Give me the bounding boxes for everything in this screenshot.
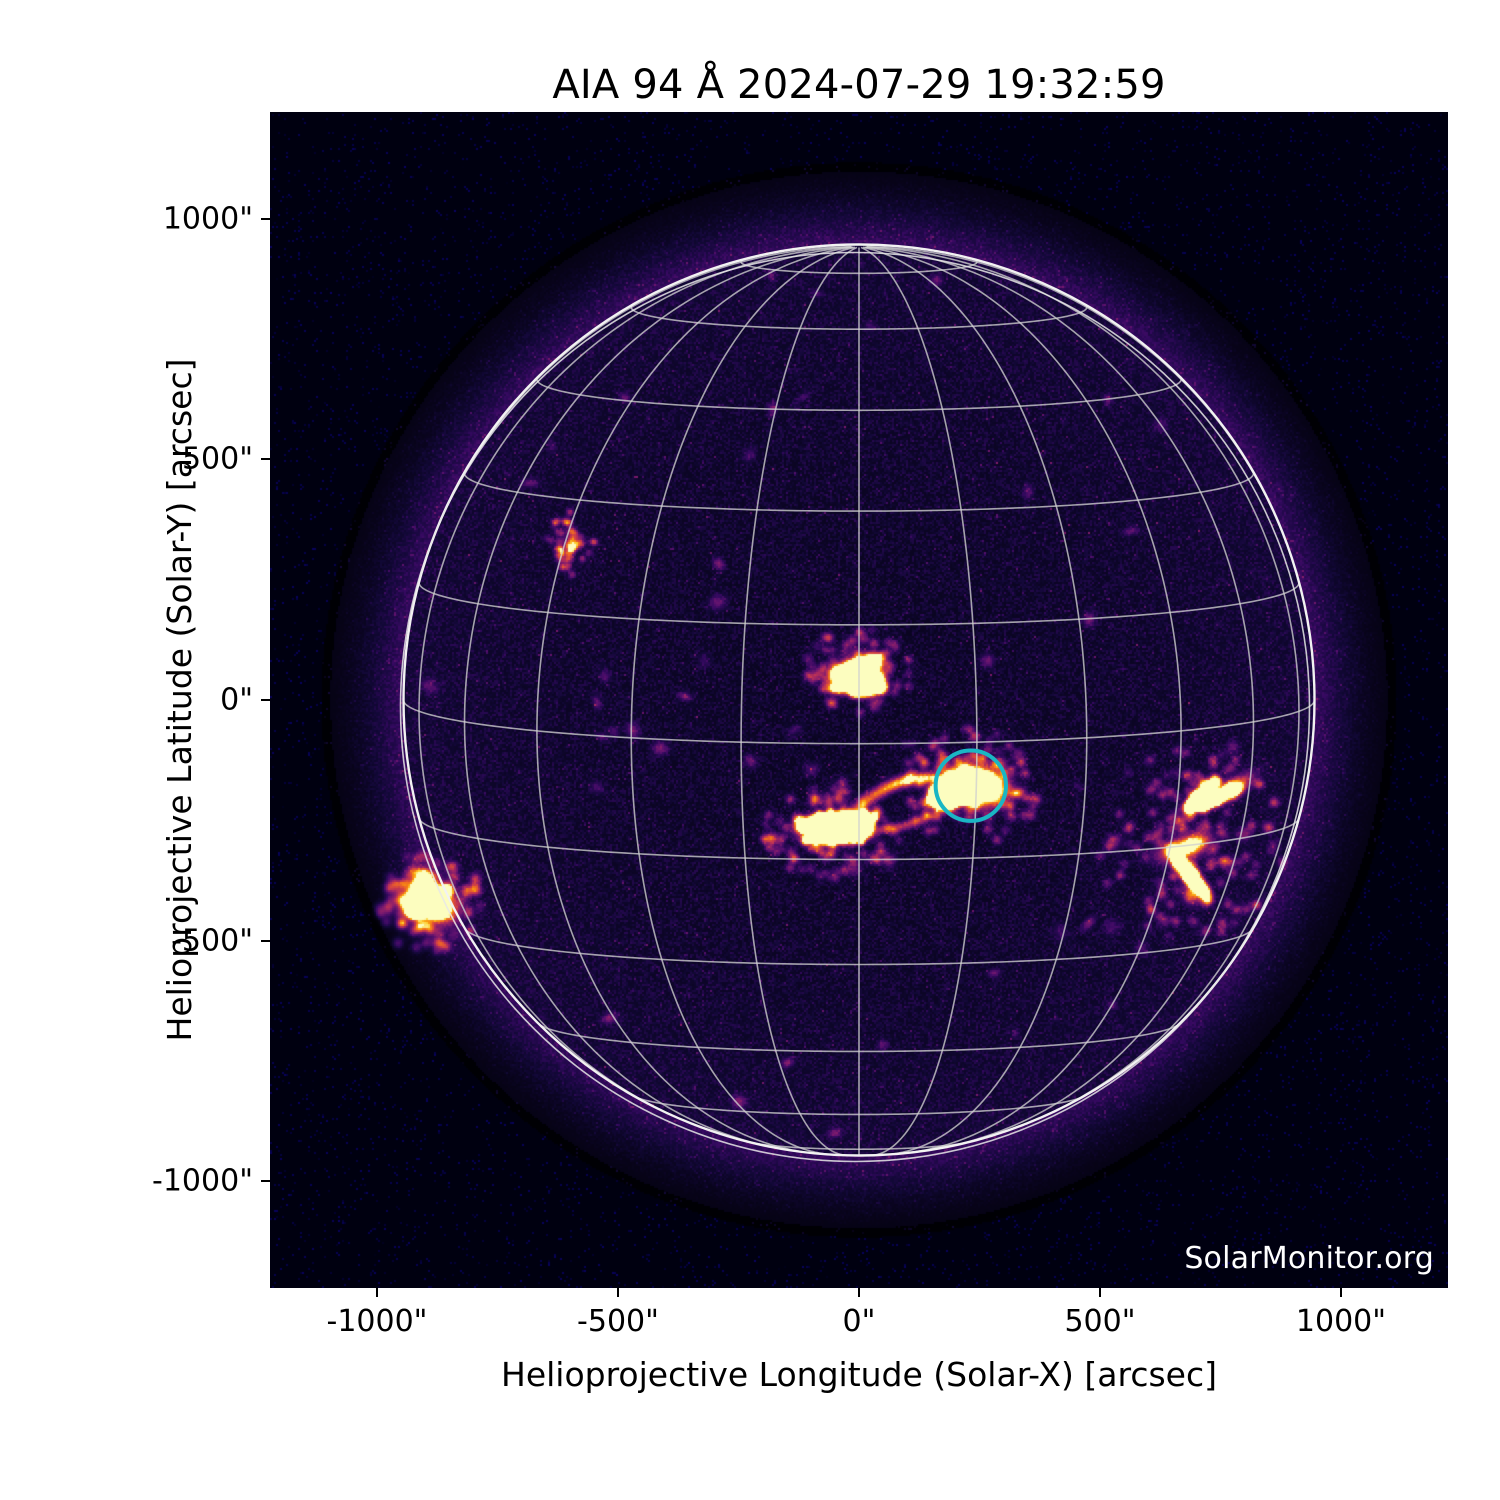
heliographic-grid	[404, 247, 1315, 1156]
x-tick-mark	[617, 1288, 619, 1297]
watermark: SolarMonitor.org	[1184, 1241, 1434, 1276]
x-axis-label: Helioprojective Longitude (Solar-X) [arc…	[270, 1355, 1448, 1394]
y-tick-mark	[261, 940, 270, 942]
x-tick-mark	[376, 1288, 378, 1297]
grid-meridian	[866, 247, 1254, 1149]
grid-meridian	[861, 247, 977, 1155]
grid-meridian	[404, 247, 852, 700]
grid-overlay	[270, 112, 1448, 1288]
y-tick-mark	[261, 699, 270, 701]
grid-meridian	[867, 247, 1315, 700]
active-region-marker[interactable]	[936, 750, 1006, 820]
grid-meridian	[863, 247, 1087, 1154]
page-title: AIA 94 Å 2024-07-29 19:32:59	[270, 62, 1448, 108]
grid-meridian	[631, 247, 855, 1154]
grid-meridian	[865, 247, 1181, 1153]
y-tick-mark	[261, 1180, 270, 1182]
x-tick-label: 0"	[843, 1304, 876, 1339]
grid-meridian	[465, 247, 853, 1149]
grid-meridian	[537, 247, 853, 1153]
x-tick-mark	[1340, 1288, 1342, 1297]
y-tick-mark	[261, 218, 270, 220]
y-axis-label: Helioprojective Latitude (Solar-Y) [arcs…	[160, 112, 199, 1288]
y-tick-mark	[261, 458, 270, 460]
solar-image-figure: AIA 94 Å 2024-07-29 19:32:59 SolarMonito…	[0, 0, 1500, 1500]
x-tick-label: 500"	[1064, 1304, 1135, 1339]
grid-meridian	[419, 247, 851, 1127]
x-tick-label: -1000"	[327, 1304, 428, 1339]
x-tick-mark	[1099, 1288, 1101, 1297]
x-tick-label: 1000"	[1296, 1304, 1386, 1339]
x-tick-mark	[858, 1288, 860, 1297]
plot-area[interactable]: SolarMonitor.org	[270, 112, 1448, 1288]
grid-meridian	[867, 247, 1299, 1127]
grid-meridian	[741, 247, 857, 1155]
annotation-layer[interactable]	[936, 750, 1006, 820]
x-tick-label: -500"	[577, 1304, 659, 1339]
